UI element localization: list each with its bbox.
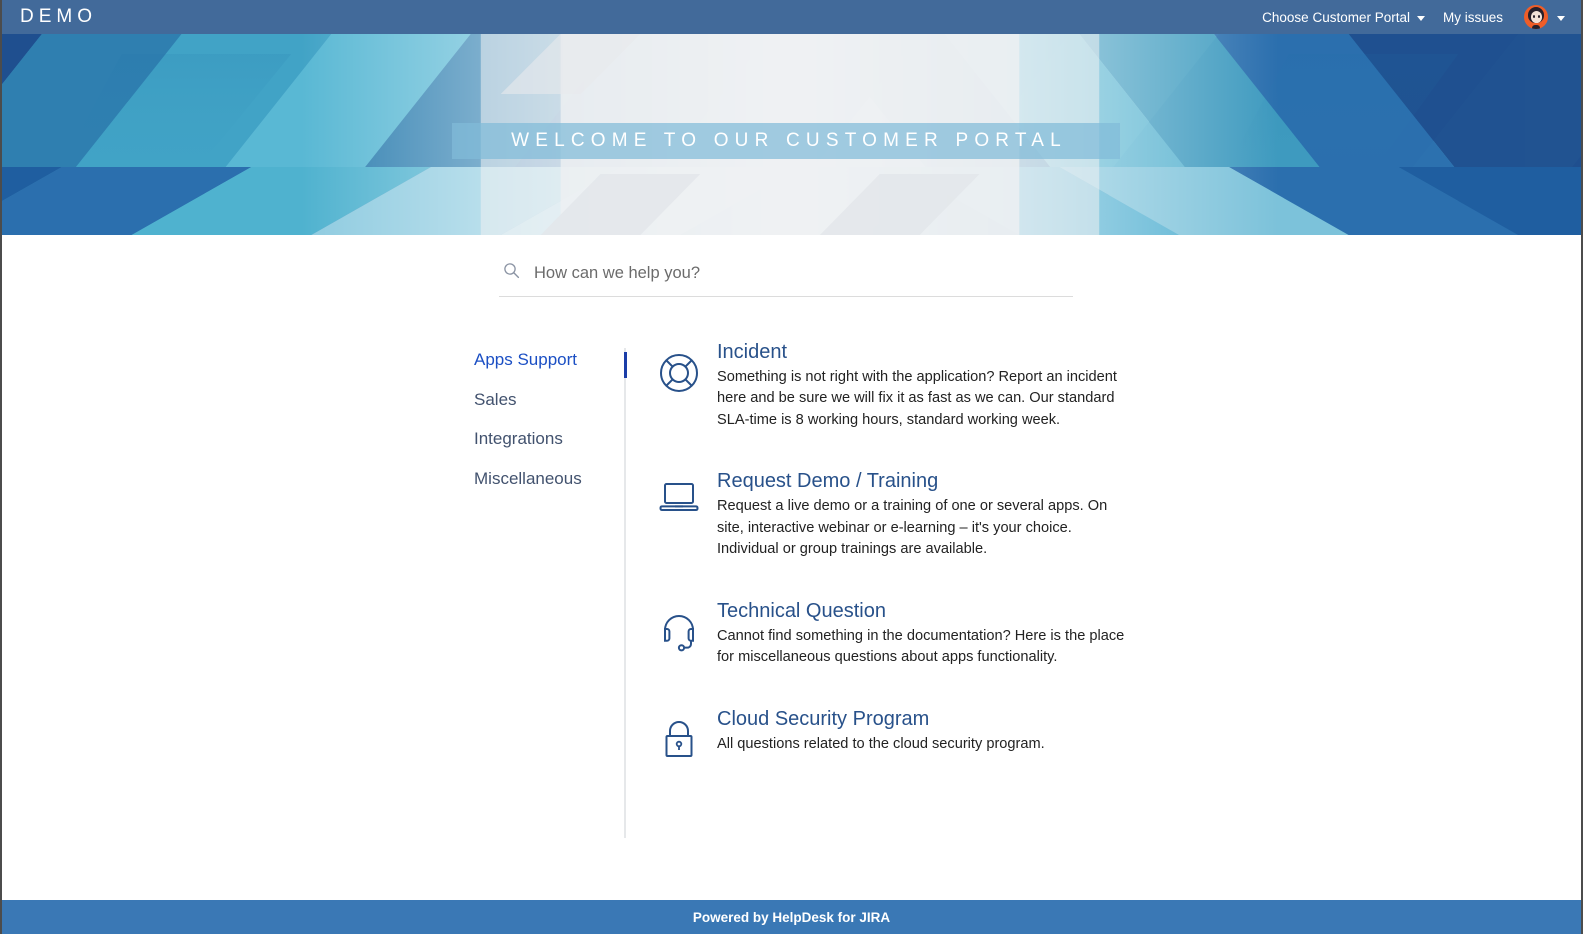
choose-customer-portal-menu[interactable]: Choose Customer Portal bbox=[1253, 10, 1434, 25]
my-issues-link[interactable]: My issues bbox=[1434, 10, 1512, 25]
request-type-list: Incident Something is not right with the… bbox=[657, 340, 1177, 799]
request-type-title[interactable]: Incident bbox=[717, 340, 1177, 365]
headset-icon bbox=[657, 599, 701, 653]
request-type-body: Incident Something is not right with the… bbox=[717, 340, 1177, 431]
avatar-eye-left bbox=[1533, 15, 1535, 18]
top-navigation-bar: DEMO Choose Customer Portal My issues bbox=[2, 0, 1581, 34]
my-issues-label: My issues bbox=[1443, 10, 1503, 25]
life-ring-icon bbox=[657, 340, 701, 394]
category-item-miscellaneous[interactable]: Miscellaneous bbox=[474, 469, 614, 509]
search-section bbox=[499, 258, 1073, 297]
footer-bar: Powered by HelpDesk for JIRA bbox=[2, 900, 1581, 934]
category-list: Apps Support Sales Integrations Miscella… bbox=[474, 350, 614, 508]
category-item-integrations[interactable]: Integrations bbox=[474, 429, 614, 469]
request-type-request-demo-training[interactable]: Request Demo / Training Request a live d… bbox=[657, 469, 1177, 560]
chevron-down-icon bbox=[1557, 16, 1565, 21]
request-type-body: Cloud Security Program All questions rel… bbox=[717, 707, 1177, 755]
hero-title-band: WELCOME TO OUR CUSTOMER PORTAL bbox=[452, 123, 1120, 159]
column-divider bbox=[624, 348, 626, 838]
padlock-icon bbox=[657, 707, 701, 761]
request-type-title[interactable]: Cloud Security Program bbox=[717, 707, 1177, 732]
request-type-description: All questions related to the cloud secur… bbox=[717, 734, 1135, 755]
category-item-apps-support[interactable]: Apps Support bbox=[474, 350, 614, 390]
active-category-indicator bbox=[624, 352, 627, 378]
request-type-body: Request Demo / Training Request a live d… bbox=[717, 469, 1177, 560]
request-type-incident[interactable]: Incident Something is not right with the… bbox=[657, 340, 1177, 431]
request-type-title[interactable]: Technical Question bbox=[717, 599, 1177, 624]
chevron-down-icon bbox=[1417, 16, 1425, 21]
choose-customer-portal-label: Choose Customer Portal bbox=[1262, 10, 1410, 25]
category-item-sales[interactable]: Sales bbox=[474, 390, 614, 430]
avatar-neck bbox=[1532, 25, 1540, 29]
avatar-eye-right bbox=[1538, 15, 1540, 18]
hero-banner: WELCOME TO OUR CUSTOMER PORTAL bbox=[2, 34, 1581, 235]
request-type-description: Request a live demo or a training of one… bbox=[717, 496, 1135, 560]
request-type-description: Something is not right with the applicat… bbox=[717, 367, 1135, 431]
top-nav-right-group: Choose Customer Portal My issues bbox=[1253, 5, 1567, 29]
avatar bbox=[1524, 5, 1548, 29]
search-input[interactable] bbox=[534, 264, 1073, 283]
customer-portal-page: DEMO Choose Customer Portal My issues bbox=[0, 0, 1583, 934]
request-type-title[interactable]: Request Demo / Training bbox=[717, 469, 1177, 494]
brand-logo[interactable]: DEMO bbox=[20, 7, 97, 27]
request-type-body: Technical Question Cannot find something… bbox=[717, 599, 1177, 669]
request-type-cloud-security-program[interactable]: Cloud Security Program All questions rel… bbox=[657, 707, 1177, 761]
main-content: Apps Support Sales Integrations Miscella… bbox=[2, 340, 1581, 872]
footer-text[interactable]: Powered by HelpDesk for JIRA bbox=[693, 910, 890, 925]
search-icon bbox=[503, 262, 520, 284]
request-type-technical-question[interactable]: Technical Question Cannot find something… bbox=[657, 599, 1177, 669]
user-profile-menu[interactable] bbox=[1512, 5, 1567, 29]
laptop-icon bbox=[657, 469, 701, 515]
request-type-description: Cannot find something in the documentati… bbox=[717, 626, 1135, 669]
search-box[interactable] bbox=[499, 258, 1073, 297]
page-title: WELCOME TO OUR CUSTOMER PORTAL bbox=[505, 130, 1067, 152]
